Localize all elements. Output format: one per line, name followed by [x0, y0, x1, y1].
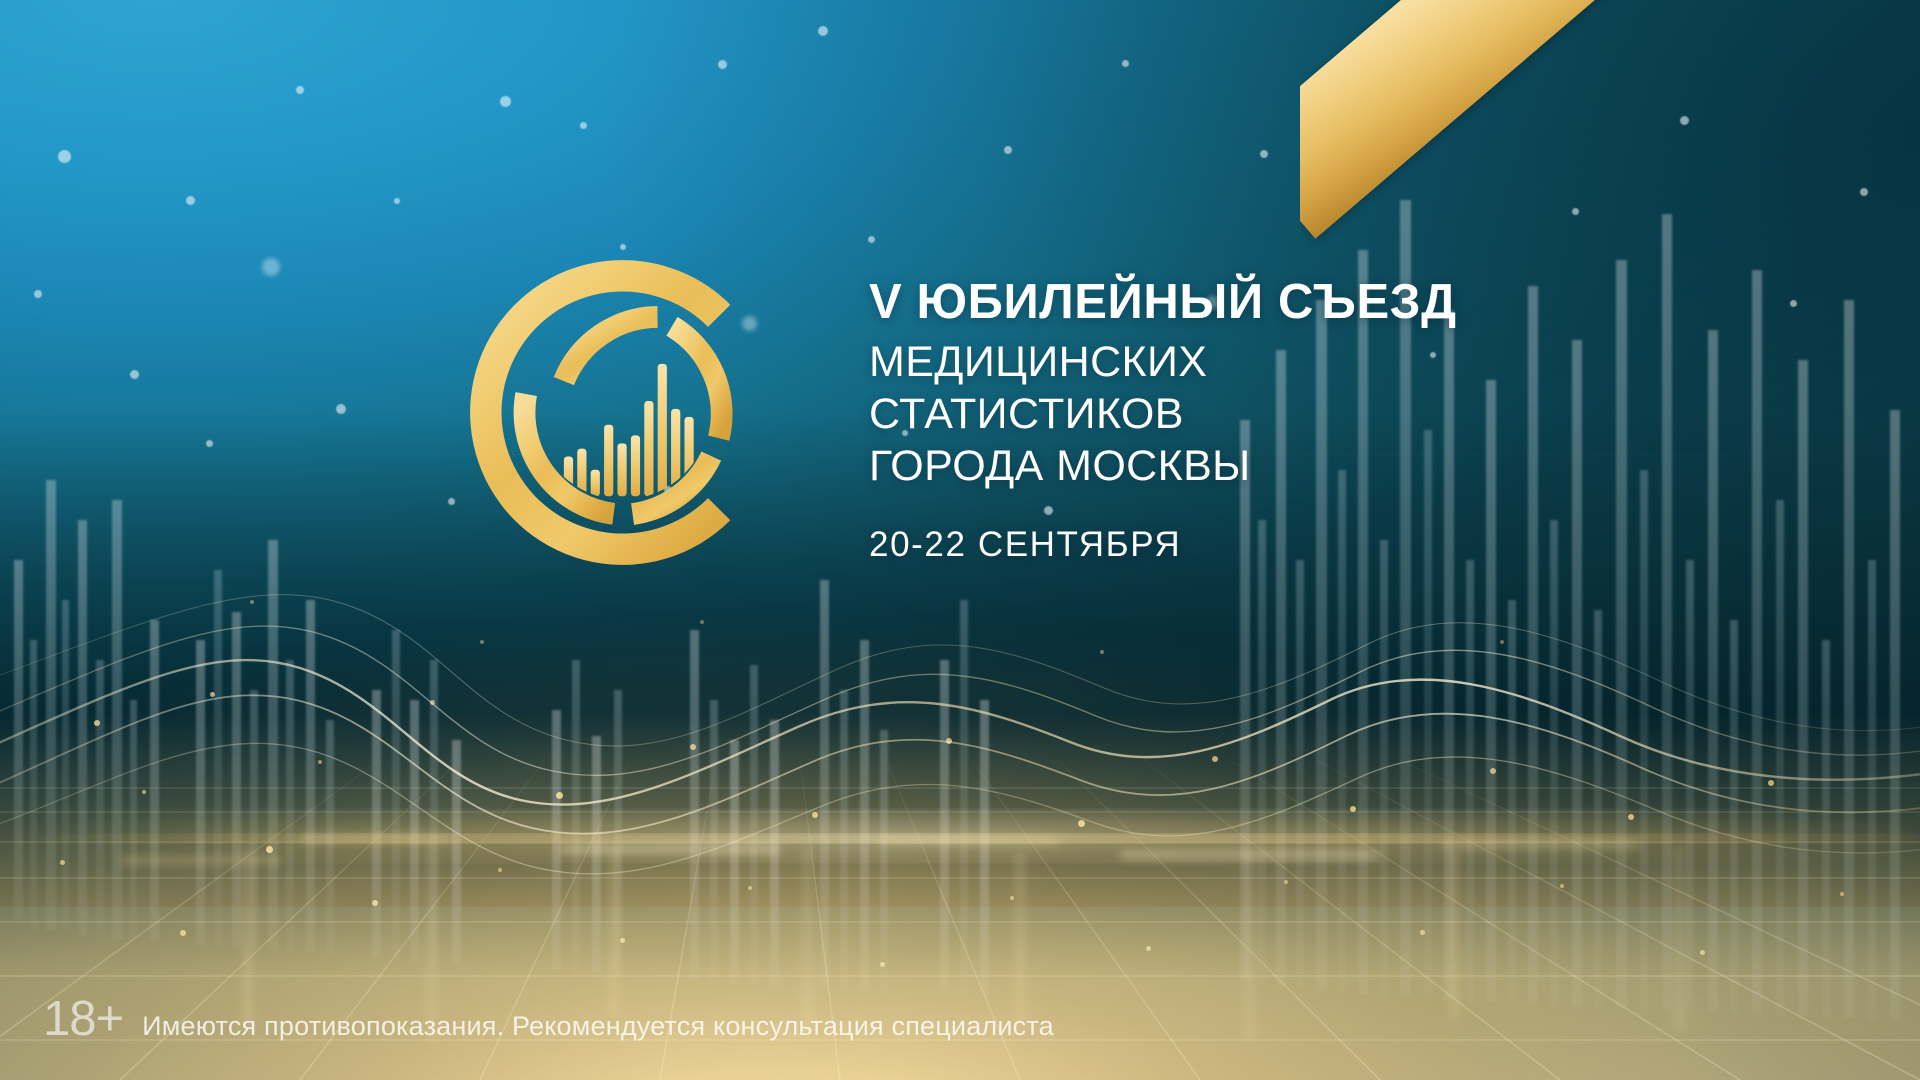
emblem-bar — [577, 449, 586, 497]
emblem-bar — [604, 425, 613, 496]
emblem-bar — [644, 401, 653, 496]
emblem-bar — [617, 443, 626, 496]
emblem-bar — [658, 364, 667, 496]
title-line-2: МЕДИЦИНСКИХ — [869, 341, 1629, 384]
event-date: 20-22 СЕНТЯБРЯ — [869, 527, 1629, 562]
title-line-3: СТАТИСТИКОВ — [869, 393, 1629, 436]
title-block: V ЮБИЛЕЙНЫЙ СЪЕЗД МЕДИЦИНСКИХ СТАТИСТИКО… — [869, 278, 1629, 562]
congress-emblem-logo — [455, 245, 790, 580]
emblem-bar — [591, 470, 600, 496]
emblem-bar — [631, 435, 640, 496]
footer-legal: 18+ Имеются противопоказания. Рекомендуе… — [43, 995, 1054, 1044]
age-rating-badge: 18+ — [43, 995, 123, 1044]
banner-canvas: V ЮБИЛЕЙНЫЙ СЪЕЗД МЕДИЦИНСКИХ СТАТИСТИКО… — [0, 0, 1920, 1080]
disclaimer-text: Имеются противопоказания. Рекомендуется … — [142, 1013, 1054, 1040]
title-line-4: ГОРОДА МОСКВЫ — [869, 445, 1629, 488]
title-line-main: V ЮБИЛЕЙНЫЙ СЪЕЗД — [869, 278, 1629, 327]
emblem-bar — [725, 433, 734, 497]
